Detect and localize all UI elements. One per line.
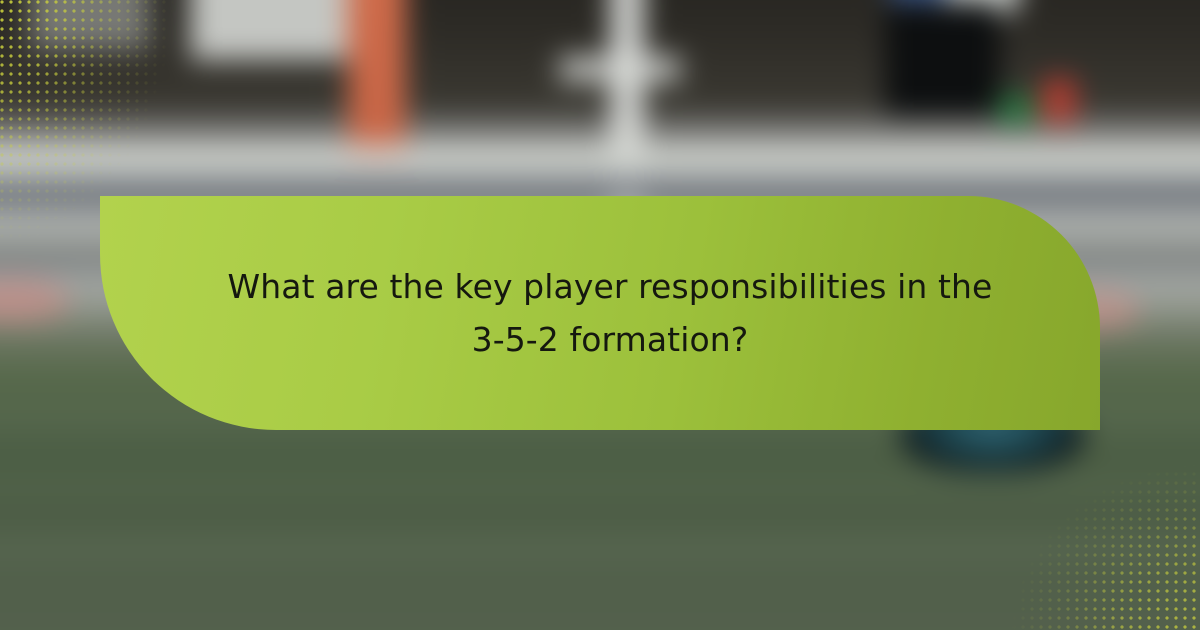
question-line-1: What are the key player responsibilities… <box>228 267 993 306</box>
share-card-canvas: What are the key player responsibilities… <box>0 0 1200 630</box>
background-board-left <box>30 0 150 50</box>
background-red-cone <box>1042 78 1076 124</box>
question-text: What are the key player responsibilities… <box>185 260 1015 367</box>
background-white-board <box>190 0 360 60</box>
question-card: What are the key player responsibilities… <box>100 196 1100 430</box>
background-field-stripe-3 <box>0 545 1200 554</box>
background-white-crossbar <box>560 56 680 82</box>
background-dark-bag <box>885 2 1000 117</box>
background-green-cone <box>998 95 1034 125</box>
background-fence-rail-1 <box>0 142 1200 176</box>
background-field-stripe-2 <box>0 480 1200 489</box>
background-orange-pole <box>348 0 406 165</box>
question-line-2: 3-5-2 formation? <box>205 313 1015 366</box>
